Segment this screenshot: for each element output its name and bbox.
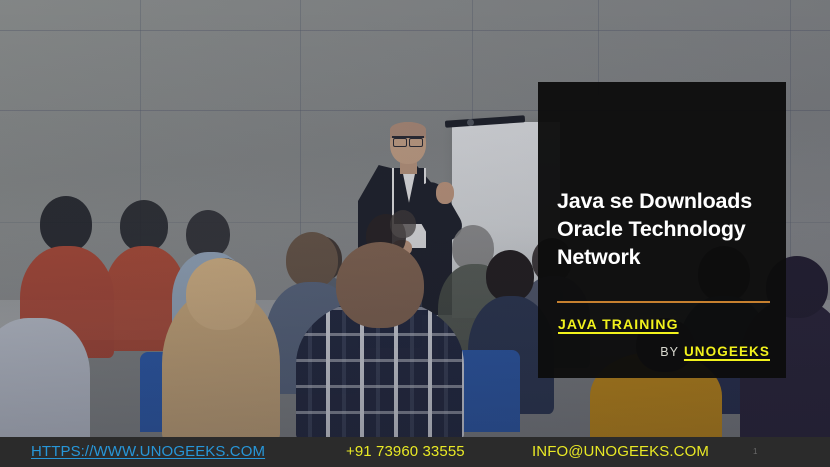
page-number: 1 bbox=[753, 447, 757, 456]
presenter-hand-raised bbox=[436, 182, 454, 204]
phone-number: +91 73960 33555 bbox=[346, 443, 465, 460]
whiteboard-rail-dot bbox=[467, 119, 474, 126]
title-divider bbox=[557, 301, 770, 303]
slide-title: Java se Downloads Oracle Technology Netw… bbox=[557, 187, 777, 271]
wall-seam-vertical bbox=[790, 0, 791, 300]
email-address: INFO@UNOGEEKS.COM bbox=[532, 443, 709, 460]
byline: BYUNOGEEKS bbox=[660, 344, 770, 359]
training-link[interactable]: JAVA TRAINING bbox=[558, 316, 679, 332]
byline-prefix: BY bbox=[660, 345, 679, 359]
footer-bar: HTTPS://WWW.UNOGEEKS.COM +91 73960 33555… bbox=[0, 437, 830, 467]
wall-seam-horizontal bbox=[0, 30, 830, 31]
wall-seam-vertical bbox=[472, 0, 473, 120]
presenter-glasses bbox=[392, 136, 424, 143]
slide-title-line: Java se Downloads bbox=[557, 187, 777, 215]
wall-seam-vertical bbox=[300, 0, 301, 235]
slide-title-line: Network bbox=[557, 243, 777, 271]
brand-name[interactable]: UNOGEEKS bbox=[684, 344, 770, 359]
content-panel: Java se Downloads Oracle Technology Netw… bbox=[538, 82, 786, 378]
slide-canvas: Java se Downloads Oracle Technology Netw… bbox=[0, 0, 830, 467]
slide-title-line: Oracle Technology bbox=[557, 215, 777, 243]
wall-seam-vertical bbox=[598, 0, 599, 95]
website-link[interactable]: HTTPS://WWW.UNOGEEKS.COM bbox=[31, 443, 265, 460]
